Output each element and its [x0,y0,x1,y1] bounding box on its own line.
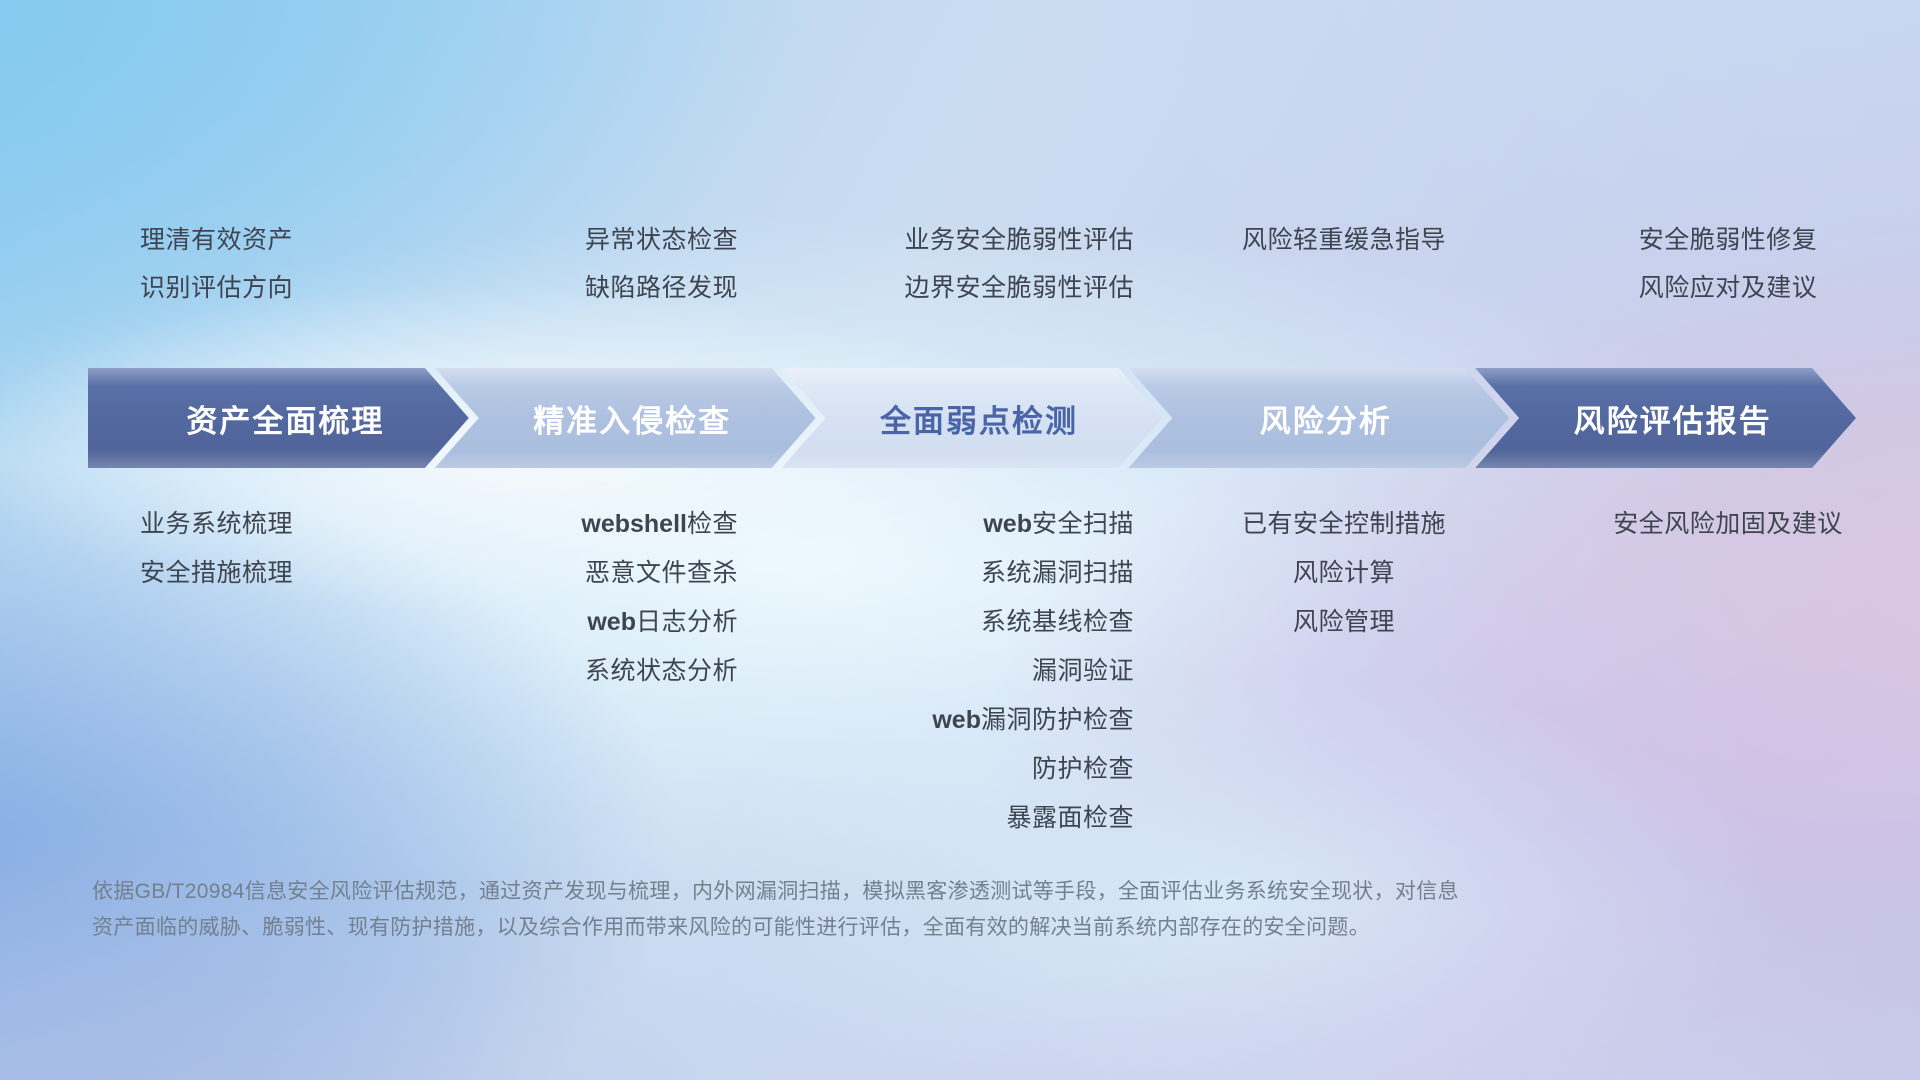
bottom-label: web安全扫描 [983,512,1134,537]
bottom-label-column-4: 已有安全控制措施风险计算风险管理 [1152,512,1536,855]
process-stage-5[interactable]: 风险评估报告 [1475,368,1856,468]
top-label: 风险应对及建议 [1639,276,1818,301]
bottom-label-text: 防护检查 [1032,755,1134,783]
bottom-label: 风险管理 [1293,610,1395,635]
bottom-label-text: 风险计算 [1293,559,1395,587]
bottom-label-column-1: 业务系统梳理安全措施梳理 [0,512,384,855]
top-label-column-1: 理清有效资产识别评估方向 [0,228,384,324]
bottom-label: 风险计算 [1293,561,1395,586]
process-stage-label: 资产全面梳理 [172,396,384,441]
top-label-column-3: 业务安全脆弱性评估边界安全脆弱性评估 [768,228,1152,324]
bottom-label-text: 已有安全控制措施 [1242,510,1446,538]
bottom-label: 暴露面检查 [1006,806,1134,831]
bottom-label-text: 安全风险加固及建议 [1613,510,1843,538]
process-stage-label: 精准入侵检查 [519,396,731,441]
bottom-label-text: 系统基线检查 [981,608,1134,636]
footer-line: 依据GB/T20984信息安全风险评估规范，通过资产发现与梳理，内外网漏洞扫描，… [92,874,1592,910]
top-label: 识别评估方向 [140,276,293,301]
bottom-label: 安全风险加固及建议 [1613,512,1843,537]
top-label: 理清有效资产 [140,228,293,253]
bottom-label-column-2: webshell检查恶意文件查杀web日志分析系统状态分析 [384,512,768,855]
bottom-label-latin: web [587,608,636,636]
footer-description: 依据GB/T20984信息安全风险评估规范，通过资产发现与梳理，内外网漏洞扫描，… [92,874,1592,946]
process-stage-label: 风险评估报告 [1560,396,1772,441]
process-stage-3[interactable]: 全面弱点检测 [782,368,1163,468]
bottom-label: 业务系统梳理 [140,512,293,537]
bottom-label-text: 漏洞验证 [1032,657,1134,685]
bottom-label-latin: webshell [581,510,687,538]
top-label: 缺陷路径发现 [585,276,738,301]
top-label-column-2: 异常状态检查缺陷路径发现 [384,228,768,324]
process-stage-1[interactable]: 资产全面梳理 [88,368,469,468]
bottom-label-text: 检查 [687,510,738,538]
bottom-label-text: 系统漏洞扫描 [981,559,1134,587]
bottom-label-text: 安全措施梳理 [140,559,293,587]
bottom-label: 系统状态分析 [585,659,738,684]
bottom-label-text: 恶意文件查杀 [585,559,738,587]
bottom-label-text: 业务系统梳理 [140,510,293,538]
top-label: 边界安全脆弱性评估 [904,276,1134,301]
process-stage-2[interactable]: 精准入侵检查 [435,368,816,468]
bottom-label-text: 日志分析 [636,608,738,636]
bottom-label-row: 业务系统梳理安全措施梳理webshell检查恶意文件查杀web日志分析系统状态分… [0,512,1920,855]
bottom-label: 系统基线检查 [981,610,1134,635]
process-flow-bar: 资产全面梳理精准入侵检查全面弱点检测风险分析风险评估报告 [88,368,1856,468]
top-label: 异常状态检查 [585,228,738,253]
bottom-label: web日志分析 [587,610,738,635]
bottom-label-text: 安全扫描 [1032,510,1134,538]
process-stage-label: 全面弱点检测 [866,396,1078,441]
top-label: 安全脆弱性修复 [1639,228,1818,253]
top-label-row: 理清有效资产识别评估方向异常状态检查缺陷路径发现业务安全脆弱性评估边界安全脆弱性… [0,228,1920,324]
bottom-label: 已有安全控制措施 [1242,512,1446,537]
bottom-label: 防护检查 [1032,757,1134,782]
process-stage-label: 风险分析 [1246,396,1392,441]
bottom-label: 系统漏洞扫描 [981,561,1134,586]
bottom-label: web漏洞防护检查 [932,708,1134,733]
bottom-label: 安全措施梳理 [140,561,293,586]
footer-line: 资产面临的威胁、脆弱性、现有防护措施，以及综合作用而带来风险的可能性进行评估，全… [92,910,1592,946]
bottom-label-column-5: 安全风险加固及建议 [1536,512,1920,855]
top-label: 风险轻重缓急指导 [1242,228,1446,253]
bottom-label-latin: web [983,510,1032,538]
top-label-column-4: 风险轻重缓急指导 [1152,228,1536,324]
bottom-label-latin: web [932,706,981,734]
bottom-label-column-3: web安全扫描系统漏洞扫描系统基线检查漏洞验证web漏洞防护检查防护检查暴露面检… [768,512,1152,855]
bottom-label-text: 漏洞防护检查 [981,706,1134,734]
bottom-label-text: 系统状态分析 [585,657,738,685]
top-label-column-5: 安全脆弱性修复风险应对及建议 [1536,228,1920,324]
bottom-label: 恶意文件查杀 [585,561,738,586]
bottom-label-text: 暴露面检查 [1006,804,1134,832]
bottom-label-text: 风险管理 [1293,608,1395,636]
bottom-label: 漏洞验证 [1032,659,1134,684]
bottom-label: webshell检查 [581,512,738,537]
process-stage-4[interactable]: 风险分析 [1128,368,1509,468]
top-label: 业务安全脆弱性评估 [904,228,1134,253]
